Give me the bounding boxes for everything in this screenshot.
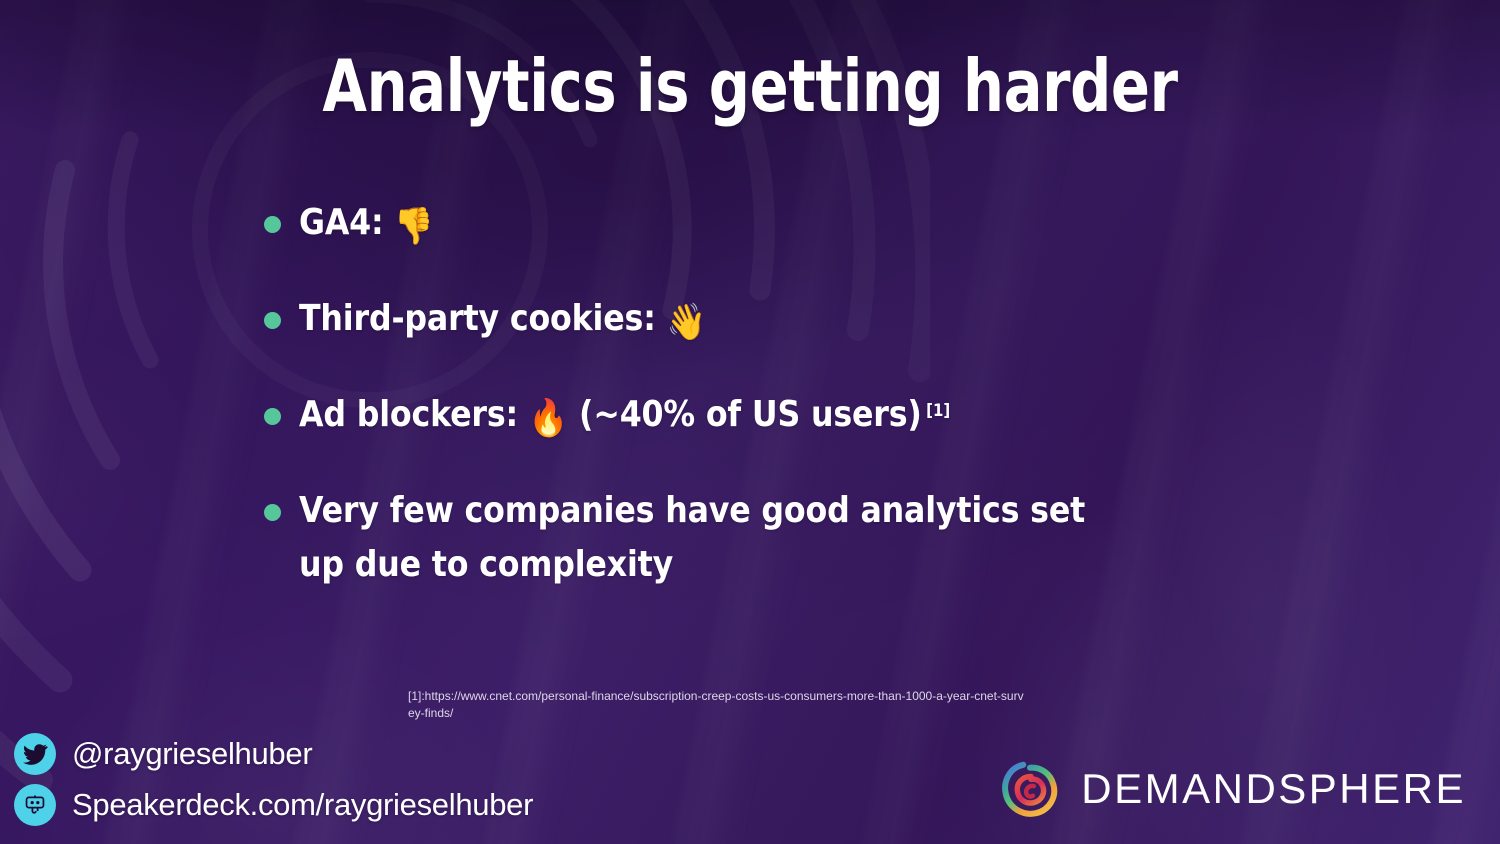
bullet-dot-icon — [264, 312, 281, 329]
thumbs-down-emoji: 👎 — [394, 206, 433, 247]
bullet-dot-icon — [264, 408, 281, 425]
demandsphere-swirl-logo-icon — [999, 758, 1061, 820]
brand-name: DEMANDSPHERE — [1081, 765, 1466, 813]
bullet-label: Very few companies have good analytics s… — [299, 490, 1085, 585]
slide-canvas: Analytics is getting harder GA4: 👎 Third… — [0, 0, 1500, 844]
fire-emoji: 🔥 — [529, 398, 568, 439]
twitter-link[interactable]: @raygrieselhuber — [14, 733, 533, 775]
footnote-source-url: [1]:https://www.cnet.com/personal-financ… — [408, 688, 1028, 723]
list-item: GA4: 👎 — [264, 196, 1424, 250]
twitter-bird-icon[interactable] — [14, 733, 56, 775]
bullet-text: Third-party cookies: 👋 — [299, 292, 706, 346]
bullet-label: Third-party cookies: — [299, 298, 667, 339]
bullet-text: Very few companies have good analytics s… — [299, 484, 1085, 592]
bullet-dot-icon — [264, 504, 281, 521]
list-item: Third-party cookies: 👋 — [264, 292, 1424, 346]
bullet-tail: (~40% of US users) — [568, 394, 922, 435]
bullet-label: GA4: — [299, 202, 394, 243]
bullet-dot-icon — [264, 216, 281, 233]
list-item: Ad blockers: 🔥 (~40% of US users)[1] — [264, 388, 1424, 442]
social-links: @raygrieselhuber Speakerdeck.com/raygrie… — [14, 733, 533, 826]
waving-hand-emoji: 👋 — [667, 302, 706, 343]
speakerdeck-link[interactable]: Speakerdeck.com/raygrieselhuber — [14, 784, 533, 826]
speakerdeck-icon[interactable] — [14, 784, 56, 826]
twitter-handle: @raygrieselhuber — [72, 736, 312, 772]
page-title: Analytics is getting harder — [150, 44, 1350, 128]
bullet-list: GA4: 👎 Third-party cookies: 👋 Ad blocker… — [264, 196, 1424, 592]
bullet-label: Ad blockers: — [299, 394, 529, 435]
footnote-marker: [1] — [926, 401, 950, 421]
list-item: Very few companies have good analytics s… — [264, 484, 1424, 592]
bullet-text: GA4: 👎 — [299, 196, 434, 250]
brand-logo: DEMANDSPHERE — [999, 758, 1466, 820]
bullet-text: Ad blockers: 🔥 (~40% of US users)[1] — [299, 388, 950, 442]
speakerdeck-handle: Speakerdeck.com/raygrieselhuber — [72, 787, 533, 823]
